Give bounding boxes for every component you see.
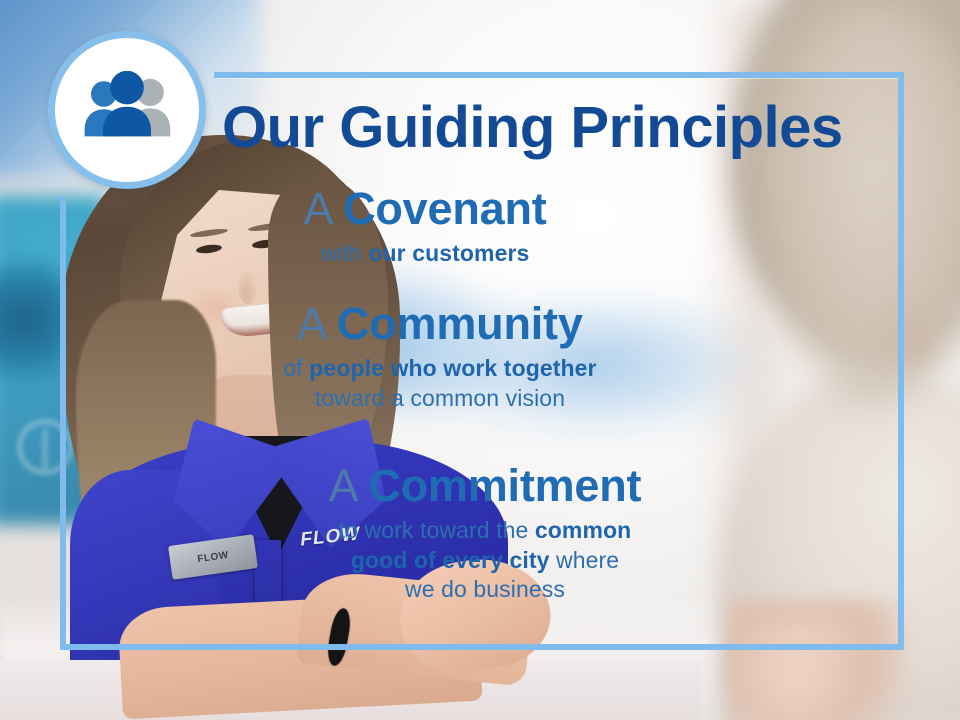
- principle-commitment-keyword: Commitment: [368, 460, 641, 511]
- employee-nose: [238, 270, 258, 304]
- page-title: Our Guiding Principles: [222, 94, 882, 161]
- principle-covenant: A Covenant with our customers: [0, 185, 880, 269]
- customer-hand-secondary: [735, 625, 855, 720]
- principle-community-sub-prefix: of: [283, 355, 309, 381]
- principle-commitment: A Commitment to work toward the commongo…: [0, 462, 880, 605]
- principle-community-subtext: of people who work togethertoward a comm…: [0, 354, 880, 413]
- principle-commitment-heading: A Commitment: [90, 462, 880, 509]
- principle-community-article: A: [297, 298, 337, 349]
- principle-community-keyword: Community: [337, 298, 583, 349]
- principle-community-sub-line2: toward a common vision: [315, 385, 565, 411]
- principle-covenant-article: A: [303, 183, 343, 234]
- principle-commitment-sub-line3: we do business: [405, 576, 565, 602]
- people-group-icon: [75, 71, 179, 149]
- people-group-badge: [48, 31, 206, 189]
- principle-commitment-subtext: to work toward the commongood of every c…: [90, 516, 880, 604]
- principle-covenant-sub-bold: our customers: [368, 240, 529, 266]
- principle-community-sub-bold: people who work together: [309, 355, 596, 381]
- banner-stage: FLOW FLOW: [0, 0, 960, 720]
- principle-commitment-sub-bold: common: [535, 517, 631, 543]
- principle-commitment-sub-prefix: to work toward the: [339, 517, 535, 543]
- principle-commitment-sub-suffix: where: [550, 547, 620, 573]
- customer-ear: [884, 300, 942, 380]
- principle-commitment-sub-bold2: good of every city: [351, 547, 550, 573]
- principle-covenant-keyword: Covenant: [343, 183, 546, 234]
- principle-commitment-article: A: [329, 460, 369, 511]
- principle-community: A Community of people who work togethert…: [0, 300, 880, 413]
- principle-covenant-subtext: with our customers: [0, 239, 850, 268]
- principle-covenant-sub-prefix: with: [321, 240, 369, 266]
- principle-community-heading: A Community: [0, 300, 880, 347]
- principle-covenant-heading: A Covenant: [0, 185, 850, 232]
